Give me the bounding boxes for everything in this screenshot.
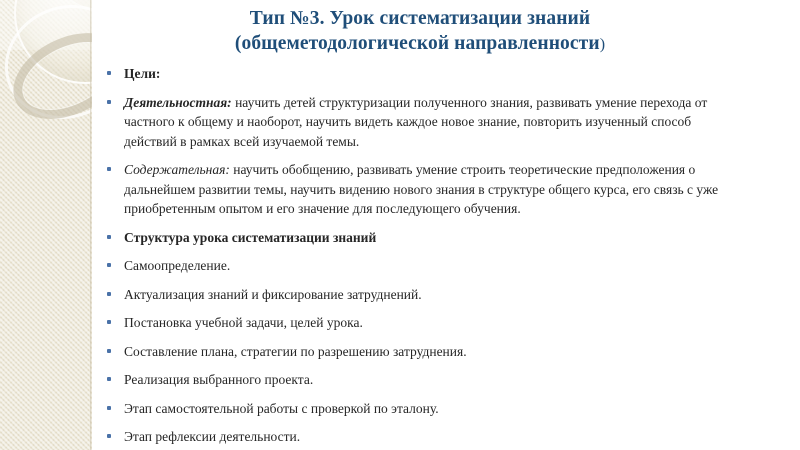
bullet-item: Самоопределение. bbox=[104, 256, 729, 276]
bullet-dot-icon bbox=[107, 263, 111, 267]
bullet-dot-icon bbox=[107, 292, 111, 296]
bullet-item: Реализация выбранного проекта. bbox=[104, 370, 729, 390]
bullet-item-lead: Содержательная: bbox=[124, 162, 230, 177]
bullet-dot-icon bbox=[107, 434, 111, 438]
bullet-item-text: Составление плана, стратегии по разрешен… bbox=[124, 344, 467, 359]
band-edge-divider bbox=[90, 0, 92, 450]
bullet-list: Цели:Деятельностная: научить детей струк… bbox=[104, 64, 729, 450]
bullet-item: Содержательная: научить обобщению, разви… bbox=[104, 160, 729, 219]
bullet-item-text: Самоопределение. bbox=[124, 258, 230, 273]
bullet-item-lead: Структура урока систематизации знаний bbox=[124, 230, 376, 245]
bullet-item: Цели: bbox=[104, 64, 729, 84]
slide-title-closing-paren: ) bbox=[600, 36, 605, 53]
bullet-dot-icon bbox=[107, 167, 111, 171]
bullet-item-text: Актуализация знаний и фиксирование затру… bbox=[124, 287, 422, 302]
bullet-dot-icon bbox=[107, 377, 111, 381]
bullet-item: Структура урока систематизации знаний bbox=[104, 228, 729, 248]
bullet-item: Составление плана, стратегии по разрешен… bbox=[104, 342, 729, 362]
bullet-item: Актуализация знаний и фиксирование затру… bbox=[104, 285, 729, 305]
bullet-dot-icon bbox=[107, 71, 111, 75]
bullet-item-text: Этап самостоятельной работы с проверкой … bbox=[124, 401, 439, 416]
bullet-item: Этап самостоятельной работы с проверкой … bbox=[104, 399, 729, 419]
bullet-dot-icon bbox=[107, 320, 111, 324]
bullet-item-lead: Деятельностная: bbox=[124, 95, 232, 110]
bullet-item-text: Реализация выбранного проекта. bbox=[124, 372, 313, 387]
bullet-dot-icon bbox=[107, 406, 111, 410]
slide-title-line-2: (общеметодологической направленности) bbox=[120, 31, 720, 57]
bullet-item-text: Постановка учебной задачи, целей урока. bbox=[124, 315, 363, 330]
bullet-item: Этап рефлексии деятельности. bbox=[104, 427, 729, 447]
bullet-dot-icon bbox=[107, 349, 111, 353]
bullet-item: Постановка учебной задачи, целей урока. bbox=[104, 313, 729, 333]
slide-canvas: Тип №3. Урок систематизации знаний (обще… bbox=[0, 0, 800, 450]
bullet-item-lead: Цели: bbox=[124, 66, 160, 81]
bullet-dot-icon bbox=[107, 235, 111, 239]
slide-title: Тип №3. Урок систематизации знаний (обще… bbox=[120, 6, 720, 57]
bullet-item: Деятельностная: научить детей структуриз… bbox=[104, 93, 729, 152]
bullet-item-text: Этап рефлексии деятельности. bbox=[124, 429, 300, 444]
slide-title-line-1: Тип №3. Урок систематизации знаний bbox=[120, 6, 720, 31]
slide-title-line-2-text: (общеметодологической направленности bbox=[235, 33, 600, 54]
bullet-dot-icon bbox=[107, 100, 111, 104]
decorative-side-band bbox=[0, 0, 92, 450]
